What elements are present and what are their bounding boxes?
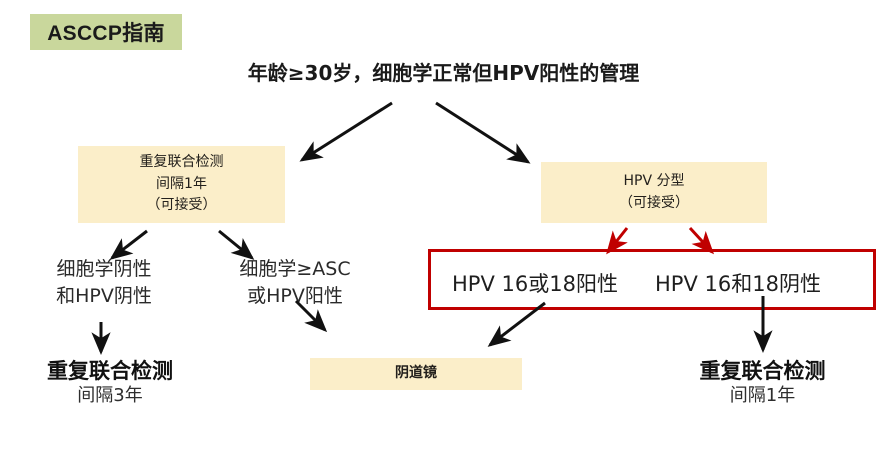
outcome-left-secondary: 间隔3年 xyxy=(10,384,210,407)
branch-label-cytology-asc: 细胞学≥ASC 或HPV阳性 xyxy=(205,256,385,310)
guideline-badge-label: ASCCP指南 xyxy=(47,17,165,47)
arrow-repeat-cotesting-to-cytology-asc xyxy=(219,231,252,258)
branch-label-cytology-negative: 细胞学阴性 和HPV阴性 xyxy=(14,256,194,310)
outcome-right-primary: 重复联合检测 xyxy=(660,358,865,384)
box-hpv-genotyping: HPV 分型 （可接受） xyxy=(541,162,767,223)
outcome-left-primary: 重复联合检测 xyxy=(10,358,210,384)
page-title: 年龄≥30岁，细胞学正常但HPV阳性的管理 xyxy=(0,57,887,86)
box-repeat-cotesting-1y: 重复联合检测 间隔1年 （可接受） xyxy=(78,146,285,223)
branch-label-cytology-asc-line2: 或HPV阳性 xyxy=(205,283,385,310)
box-hpv-genotyping-line1: HPV 分型 xyxy=(624,171,685,193)
box-repeat-cotesting-line3: （可接受） xyxy=(147,195,217,217)
outcome-repeat-cotesting-3y: 重复联合检测 间隔3年 xyxy=(10,358,210,408)
box-colposcopy-label: 阴道镜 xyxy=(395,363,437,385)
branch-label-cytology-negative-line1: 细胞学阴性 xyxy=(14,256,194,283)
flowchart-canvas: ASCCP指南 年龄≥30岁，细胞学正常但HPV阳性的管理 重复联合检测 间隔1… xyxy=(0,0,887,451)
box-repeat-cotesting-line2: 间隔1年 xyxy=(156,174,207,196)
guideline-badge: ASCCP指南 xyxy=(30,14,182,50)
branch-label-hpv-16-and-18-negative: HPV 16和18阴性 xyxy=(655,268,821,298)
box-hpv-genotyping-line2: （可接受） xyxy=(619,193,689,215)
branch-label-hpv-16-or-18-positive: HPV 16或18阳性 xyxy=(452,268,618,298)
arrow-repeat-cotesting-to-cytology-negative xyxy=(112,231,147,258)
box-repeat-cotesting-line1: 重复联合检测 xyxy=(140,152,224,174)
branch-label-cytology-negative-line2: 和HPV阴性 xyxy=(14,283,194,310)
arrow-title-to-repeat-cotesting xyxy=(302,103,392,160)
branch-label-cytology-asc-line1: 细胞学≥ASC xyxy=(205,256,385,283)
box-colposcopy: 阴道镜 xyxy=(310,358,522,390)
outcome-repeat-cotesting-1y: 重复联合检测 间隔1年 xyxy=(660,358,865,408)
arrow-title-to-hpv-genotyping xyxy=(436,103,528,162)
outcome-right-secondary: 间隔1年 xyxy=(660,384,865,407)
